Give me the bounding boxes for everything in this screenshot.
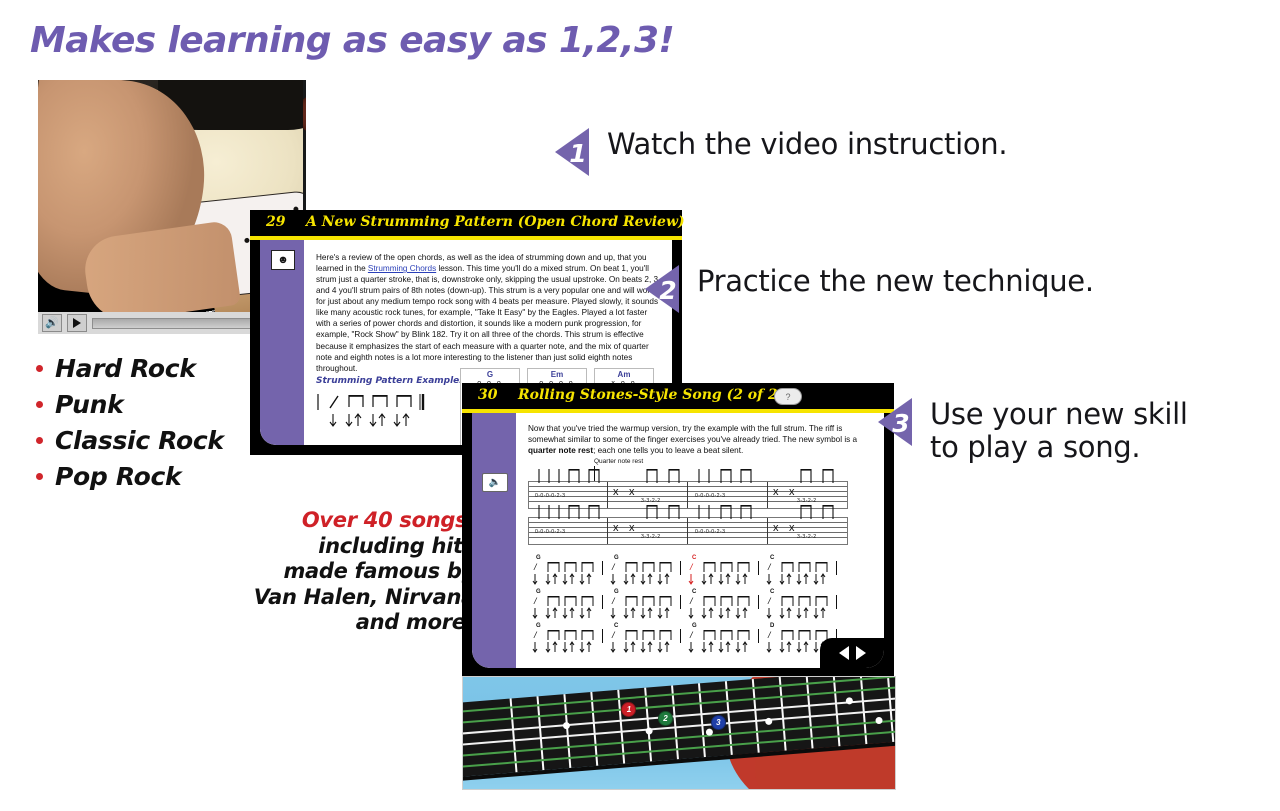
step-1: 1 Watch the video instruction. xyxy=(555,128,1007,176)
next-arrow-icon[interactable] xyxy=(856,646,866,660)
page-title: Makes learning as easy as 1,2,3! xyxy=(30,20,674,61)
navigation-buttons[interactable] xyxy=(820,638,884,668)
step-3: 3 Use your new skill to play a song. xyxy=(878,398,1200,465)
quarter-slash-icon: / xyxy=(534,562,537,572)
step-2: 2 Practice the new technique. xyxy=(645,265,1094,313)
barline xyxy=(680,629,681,643)
step-number: 2 xyxy=(653,276,683,305)
chord-name: Em xyxy=(528,370,586,379)
genre-label: Punk xyxy=(55,390,123,419)
list-item: Hard Rock xyxy=(36,350,224,386)
lesson-body-text: Here's a review of the open chords, as w… xyxy=(316,252,661,374)
quarter-slash-icon: / xyxy=(768,630,771,640)
strum-direction-arrows xyxy=(688,641,764,660)
lesson-number: 29 xyxy=(266,214,285,230)
promo-line-4: Van Halen, Nirvana xyxy=(180,585,475,611)
strum-chord-label: C xyxy=(692,555,696,561)
barline xyxy=(602,595,603,609)
genre-list: Hard Rock Punk Classic Rock Pop Rock xyxy=(36,350,224,494)
lesson-sidebar xyxy=(260,240,304,445)
barline xyxy=(680,561,681,575)
lesson-title: Rolling Stones-Style Song (2 of 2) xyxy=(518,387,784,403)
genre-label: Hard Rock xyxy=(55,354,196,383)
strum-direction-arrows xyxy=(610,641,686,660)
strumming-chords-link[interactable]: Strumming Chords xyxy=(368,264,436,273)
step-arrow-icon: 3 xyxy=(878,398,912,446)
strum-pattern-figure xyxy=(316,392,428,437)
strum-row: G/G/C/C/ xyxy=(472,589,884,619)
quarter-slash-icon: / xyxy=(690,630,693,640)
strum-chord-label: C xyxy=(770,555,774,561)
lesson-number: 30 xyxy=(478,387,497,403)
genre-label: Classic Rock xyxy=(55,426,224,455)
step-label: Practice the new technique. xyxy=(697,265,1094,298)
bullet-icon xyxy=(36,401,43,408)
barline xyxy=(680,595,681,609)
audio-speaker-icon[interactable]: 🔈 xyxy=(482,473,508,492)
quarter-slash-icon: / xyxy=(690,562,693,572)
finger-position-marker-3: 3 xyxy=(711,715,726,730)
step-label: Use your new skill to play a song. xyxy=(930,398,1200,465)
body-part-1: Now that you've tried the warmup version… xyxy=(528,424,857,444)
chord-name: Am xyxy=(595,370,653,379)
step-arrow-icon: 2 xyxy=(645,265,679,313)
quarter-slash-icon: / xyxy=(768,562,771,572)
strum-chord-label: D xyxy=(770,623,774,629)
strum-direction-arrows xyxy=(532,641,608,660)
tab-system-2: x x x x 0-0-0-0-2-3 3-3-2-2 0-0-0-0-2-3 … xyxy=(528,517,848,545)
step-label: Watch the video instruction. xyxy=(607,128,1007,161)
strum-chord-label: G xyxy=(614,555,619,561)
tab-notation-svg-1 xyxy=(529,466,847,492)
quarter-note-rest-annotation: Quarter note rest xyxy=(594,458,643,465)
guitar-soundhole xyxy=(303,94,306,134)
lesson-body-text: Now that you've tried the warmup version… xyxy=(528,423,868,456)
quarter-slash-icon: / xyxy=(534,630,537,640)
barline xyxy=(836,595,837,609)
tab-measure-numbers: 0-0-0-0-2-3 xyxy=(535,529,565,535)
animated-fretboard-image[interactable]: 123 xyxy=(462,676,896,790)
barline xyxy=(758,595,759,609)
step-number: 1 xyxy=(563,139,593,168)
promo-text: Over 40 songs, including hits made famou… xyxy=(180,508,475,636)
quarter-slash-icon: / xyxy=(768,596,771,606)
genre-label: Pop Rock xyxy=(55,462,181,491)
bullet-icon xyxy=(36,473,43,480)
body-part-2: ; each one tells you to leave a beat sil… xyxy=(593,446,743,455)
strum-chord-label: G xyxy=(536,623,541,629)
list-item: Classic Rock xyxy=(36,422,224,458)
lesson-window-rolling-stones-song[interactable]: 30 Rolling Stones-Style Song (2 of 2) ? … xyxy=(462,383,894,678)
window-titlebar: 29 A New Strumming Pattern (Open Chord R… xyxy=(250,210,682,236)
promo-line-3: made famous by xyxy=(180,559,475,585)
strum-chord-label: C xyxy=(692,589,696,595)
finger-position-marker-2: 2 xyxy=(658,711,673,726)
strum-chord-label: G xyxy=(692,623,697,629)
previous-arrow-icon[interactable] xyxy=(839,646,849,660)
chord-name: G xyxy=(461,370,519,379)
strum-chord-label: G xyxy=(614,589,619,595)
step-arrow-icon: 1 xyxy=(555,128,589,176)
poster-root: Makes learning as easy as 1,2,3! xyxy=(0,0,1280,811)
strum-chord-label: G xyxy=(536,555,541,561)
strum-chord-label: C xyxy=(614,623,618,629)
help-icon[interactable]: ? xyxy=(774,388,802,405)
strum-chord-label: G xyxy=(536,589,541,595)
tab-measure-numbers: 3-3-2-2 xyxy=(641,534,661,540)
quarter-slash-icon: / xyxy=(612,596,615,606)
tab-measure-numbers: 0-0-0-0-2-3 xyxy=(695,493,725,499)
step-number: 3 xyxy=(886,409,916,438)
barline xyxy=(758,561,759,575)
strum-notation-svg xyxy=(316,392,428,432)
quarter-slash-icon: / xyxy=(534,596,537,606)
quarter-slash-icon: / xyxy=(690,596,693,606)
tab-measure-numbers: 0-0-0-0-2-3 xyxy=(695,529,725,535)
body-bold-term: quarter note rest xyxy=(528,446,593,455)
quarter-slash-icon: / xyxy=(612,562,615,572)
lesson-content-pane: 🔈 Now that you've tried the warmup versi… xyxy=(472,413,884,668)
bullet-icon xyxy=(36,437,43,444)
play-icon[interactable] xyxy=(67,314,87,332)
tab-measure-numbers: 3-3-2-2 xyxy=(797,534,817,540)
tab-measure-numbers: 0-0-0-0-2-3 xyxy=(535,493,565,499)
strumming-examples-title: Strumming Pattern Examples xyxy=(316,376,465,386)
promo-line-1: Over 40 songs, xyxy=(180,508,475,534)
promo-line-5: and more! xyxy=(180,610,475,636)
promo-line-2: including hits xyxy=(180,534,475,560)
body-part-2: lesson. This time you'll do a mixed stru… xyxy=(316,264,660,373)
lesson-title: A New Strumming Pattern (Open Chord Revi… xyxy=(306,214,685,230)
bullet-icon xyxy=(36,365,43,372)
tab-notation-svg-2 xyxy=(529,502,847,528)
barline xyxy=(836,561,837,575)
window-titlebar: 30 Rolling Stones-Style Song (2 of 2) ? xyxy=(462,383,894,409)
quarter-slash-icon: / xyxy=(612,630,615,640)
barline xyxy=(758,629,759,643)
strum-row: G/G/C/C/ xyxy=(472,555,884,585)
list-item: Punk xyxy=(36,386,224,422)
strum-chord-label: C xyxy=(770,589,774,595)
speaker-icon[interactable]: 🔊 xyxy=(42,314,62,332)
note-tip-icon[interactable]: ☻ xyxy=(271,250,295,270)
barline xyxy=(602,629,603,643)
barline xyxy=(602,561,603,575)
list-item: Pop Rock xyxy=(36,458,224,494)
